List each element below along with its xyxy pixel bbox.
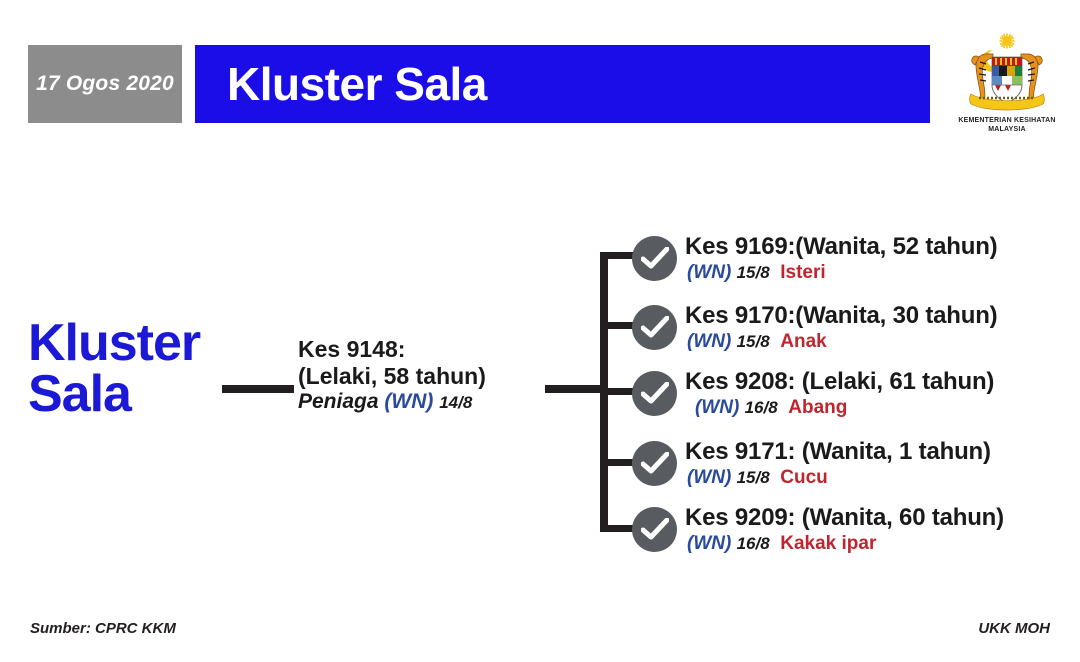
case-node-2-nationality: (WN) bbox=[687, 331, 731, 352]
case-node-1-date: 15/8 bbox=[737, 263, 770, 282]
ministry-logo: KEMENTERIAN KESIHATAN MALAYSIA bbox=[948, 32, 1066, 144]
case-node-3: Kes 9208: (Lelaki, 61 tahun) (WN) 16/8 A… bbox=[632, 369, 994, 420]
case-node-3-demographics: (Lelaki, 61 tahun) bbox=[802, 368, 994, 395]
case-node-5-relation: Kakak ipar bbox=[780, 533, 876, 554]
index-case-details: Peniaga (WN) 14/8 bbox=[298, 390, 538, 415]
case-node-1-text: Kes 9169:(Wanita, 52 tahun) (WN) 15/8 Is… bbox=[685, 234, 997, 285]
case-node-3-nationality: (WN) bbox=[695, 397, 739, 418]
case-node-1-demographics: (Wanita, 52 tahun) bbox=[795, 233, 997, 260]
case-node-5: Kes 9209: (Wanita, 60 tahun) (WN) 16/8 K… bbox=[632, 505, 1004, 556]
case-node-4-date: 15/8 bbox=[737, 468, 770, 487]
cluster-name-line1: Kluster bbox=[28, 318, 258, 369]
case-node-4: Kes 9171: (Wanita, 1 tahun) (WN) 15/8 Cu… bbox=[632, 439, 991, 490]
case-node-3-line1: Kes 9208: (Lelaki, 61 tahun) bbox=[685, 369, 994, 394]
case-node-1-line1: Kes 9169:(Wanita, 52 tahun) bbox=[685, 234, 997, 259]
index-case: Kes 9148: (Lelaki, 58 tahun) Peniaga (WN… bbox=[298, 336, 538, 415]
case-node-3-text: Kes 9208: (Lelaki, 61 tahun) (WN) 16/8 A… bbox=[685, 369, 994, 420]
case-node-4-label: Kes 9171: bbox=[685, 438, 795, 465]
logo-caption: KEMENTERIAN KESIHATAN MALAYSIA bbox=[958, 117, 1055, 135]
case-node-1-line2: (WN) 15/8 Isteri bbox=[685, 261, 997, 285]
check-circle-icon bbox=[632, 441, 677, 486]
case-node-5-nationality: (WN) bbox=[687, 533, 731, 554]
case-node-4-line1: Kes 9171: (Wanita, 1 tahun) bbox=[685, 439, 991, 464]
case-node-3-relation: Abang bbox=[788, 397, 847, 418]
check-circle-icon bbox=[632, 371, 677, 416]
case-node-4-demographics: (Wanita, 1 tahun) bbox=[802, 438, 991, 465]
case-node-1-nationality: (WN) bbox=[687, 262, 731, 283]
attribution-label: UKK MOH bbox=[978, 620, 1050, 637]
source-label: Sumber: CPRC KKM bbox=[30, 620, 176, 637]
case-node-4-text: Kes 9171: (Wanita, 1 tahun) (WN) 15/8 Cu… bbox=[685, 439, 991, 490]
title-bar: Kluster Sala bbox=[195, 45, 930, 123]
index-case-label: Kes 9148: bbox=[298, 336, 538, 363]
check-circle-icon bbox=[632, 507, 677, 552]
case-node-2-relation: Anak bbox=[780, 331, 826, 352]
case-node-2-text: Kes 9170:(Wanita, 30 tahun) (WN) 15/8 An… bbox=[685, 303, 997, 354]
page-title: Kluster Sala bbox=[195, 57, 487, 111]
case-node-2-label: Kes 9170: bbox=[685, 302, 795, 329]
check-circle-icon bbox=[632, 236, 677, 281]
connector-trunk-right bbox=[545, 385, 607, 393]
case-node-4-line2: (WN) 15/8 Cucu bbox=[685, 466, 991, 490]
case-node-2-demographics: (Wanita, 30 tahun) bbox=[795, 302, 997, 329]
index-case-date: 14/8 bbox=[439, 393, 472, 412]
case-node-5-demographics: (Wanita, 60 tahun) bbox=[802, 504, 1004, 531]
case-node-2-line1: Kes 9170:(Wanita, 30 tahun) bbox=[685, 303, 997, 328]
case-node-1-relation: Isteri bbox=[780, 262, 825, 283]
case-node-2-date: 15/8 bbox=[737, 332, 770, 351]
index-case-nationality: (WN) bbox=[384, 390, 433, 413]
case-node-1-label: Kes 9169: bbox=[685, 233, 795, 260]
case-node-5-label: Kes 9209: bbox=[685, 504, 795, 531]
index-case-demographics: (Lelaki, 58 tahun) bbox=[298, 363, 538, 390]
index-case-occupation: Peniaga bbox=[298, 390, 379, 413]
slide-canvas: 17 Ogos 2020 Kluster Sala bbox=[0, 0, 1080, 662]
cluster-name-line2: Sala bbox=[28, 369, 258, 420]
case-node-3-label: Kes 9208: bbox=[685, 368, 795, 395]
case-node-5-line2: (WN) 16/8 Kakak ipar bbox=[685, 532, 1004, 556]
date-label: 17 Ogos 2020 bbox=[36, 72, 174, 96]
moh-malaysia-crest-icon bbox=[955, 32, 1059, 116]
case-node-2-line2: (WN) 15/8 Anak bbox=[685, 330, 997, 354]
case-node-4-nationality: (WN) bbox=[687, 467, 731, 488]
logo-caption-line2: MALAYSIA bbox=[958, 126, 1055, 135]
case-node-4-relation: Cucu bbox=[780, 467, 828, 488]
case-node-2: Kes 9170:(Wanita, 30 tahun) (WN) 15/8 An… bbox=[632, 303, 997, 354]
case-node-3-line2: (WN) 16/8 Abang bbox=[685, 396, 994, 420]
check-circle-icon bbox=[632, 305, 677, 350]
logo-caption-line1: KEMENTERIAN KESIHATAN bbox=[958, 117, 1055, 126]
connector-trunk-left bbox=[222, 385, 294, 393]
date-badge: 17 Ogos 2020 bbox=[28, 45, 182, 123]
case-node-5-date: 16/8 bbox=[737, 534, 770, 553]
case-node-5-text: Kes 9209: (Wanita, 60 tahun) (WN) 16/8 K… bbox=[685, 505, 1004, 556]
case-node-1: Kes 9169:(Wanita, 52 tahun) (WN) 15/8 Is… bbox=[632, 234, 997, 285]
cluster-name: Kluster Sala bbox=[28, 318, 258, 420]
case-node-3-date: 16/8 bbox=[745, 398, 778, 417]
case-node-5-line1: Kes 9209: (Wanita, 60 tahun) bbox=[685, 505, 1004, 530]
